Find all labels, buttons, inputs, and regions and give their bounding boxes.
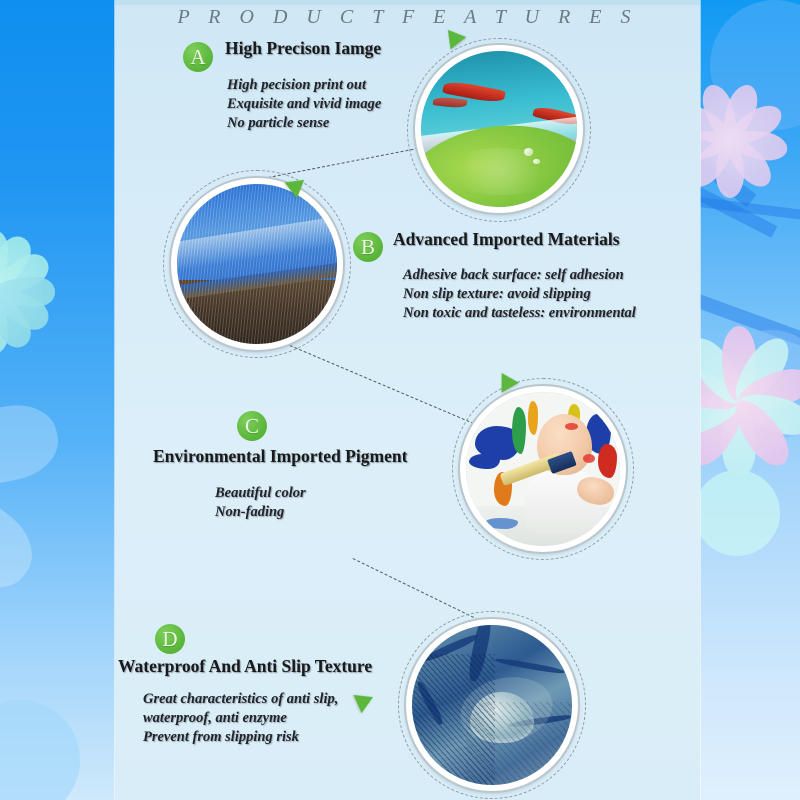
content-panel: P R O D U C T F E A T U R E S A High Pre… [115, 0, 700, 800]
photo-c-environmental-pigment [460, 386, 626, 552]
page-title: P R O D U C T F E A T U R E S [115, 6, 700, 29]
photo-b-advanced-materials [171, 178, 343, 350]
body-c-line-2: Non-fading [215, 503, 306, 522]
body-d-line-1: Great characteristics of anti slip, [143, 690, 338, 709]
badge-c: C [237, 411, 267, 441]
badge-d: D [155, 624, 185, 654]
body-b-line-3: Non toxic and tasteless: environmental [403, 304, 636, 323]
body-a: High pecision print out Exquisite and vi… [227, 76, 381, 133]
body-a-line-2: Exquisite and vivid image [227, 95, 381, 114]
heading-c: Environmental Imported Pigment [153, 446, 407, 467]
panel-top-rule [115, 0, 700, 5]
badge-b: B [353, 232, 383, 262]
body-b-line-2: Non slip texture: avoid slipping [403, 285, 636, 304]
body-b-line-1: Adhesive back surface: self adhesion [403, 266, 636, 285]
photo-a-high-precision-image [415, 45, 583, 213]
product-features-poster: P R O D U C T F E A T U R E S A High Pre… [0, 0, 800, 800]
body-d-line-3: Prevent from slipping risk [143, 728, 338, 747]
badge-a: A [183, 42, 213, 72]
body-d: Great characteristics of anti slip, wate… [143, 690, 338, 747]
body-c-line-1: Beautiful color [215, 484, 306, 503]
heading-a: High Precison Iamge [225, 38, 381, 59]
body-a-line-1: High pecision print out [227, 76, 381, 95]
body-c: Beautiful color Non-fading [215, 484, 306, 522]
body-b: Adhesive back surface: self adhesion Non… [403, 266, 636, 323]
body-a-line-3: No particle sense [227, 114, 381, 133]
heading-b: Advanced Imported Materials [393, 229, 620, 250]
connector-b-to-c [290, 345, 488, 430]
decorative-blob [694, 470, 780, 556]
connector-a-to-b [263, 146, 428, 179]
body-d-line-2: waterproof, anti enzyme [143, 709, 338, 728]
photo-d-waterproof-texture [406, 619, 578, 791]
